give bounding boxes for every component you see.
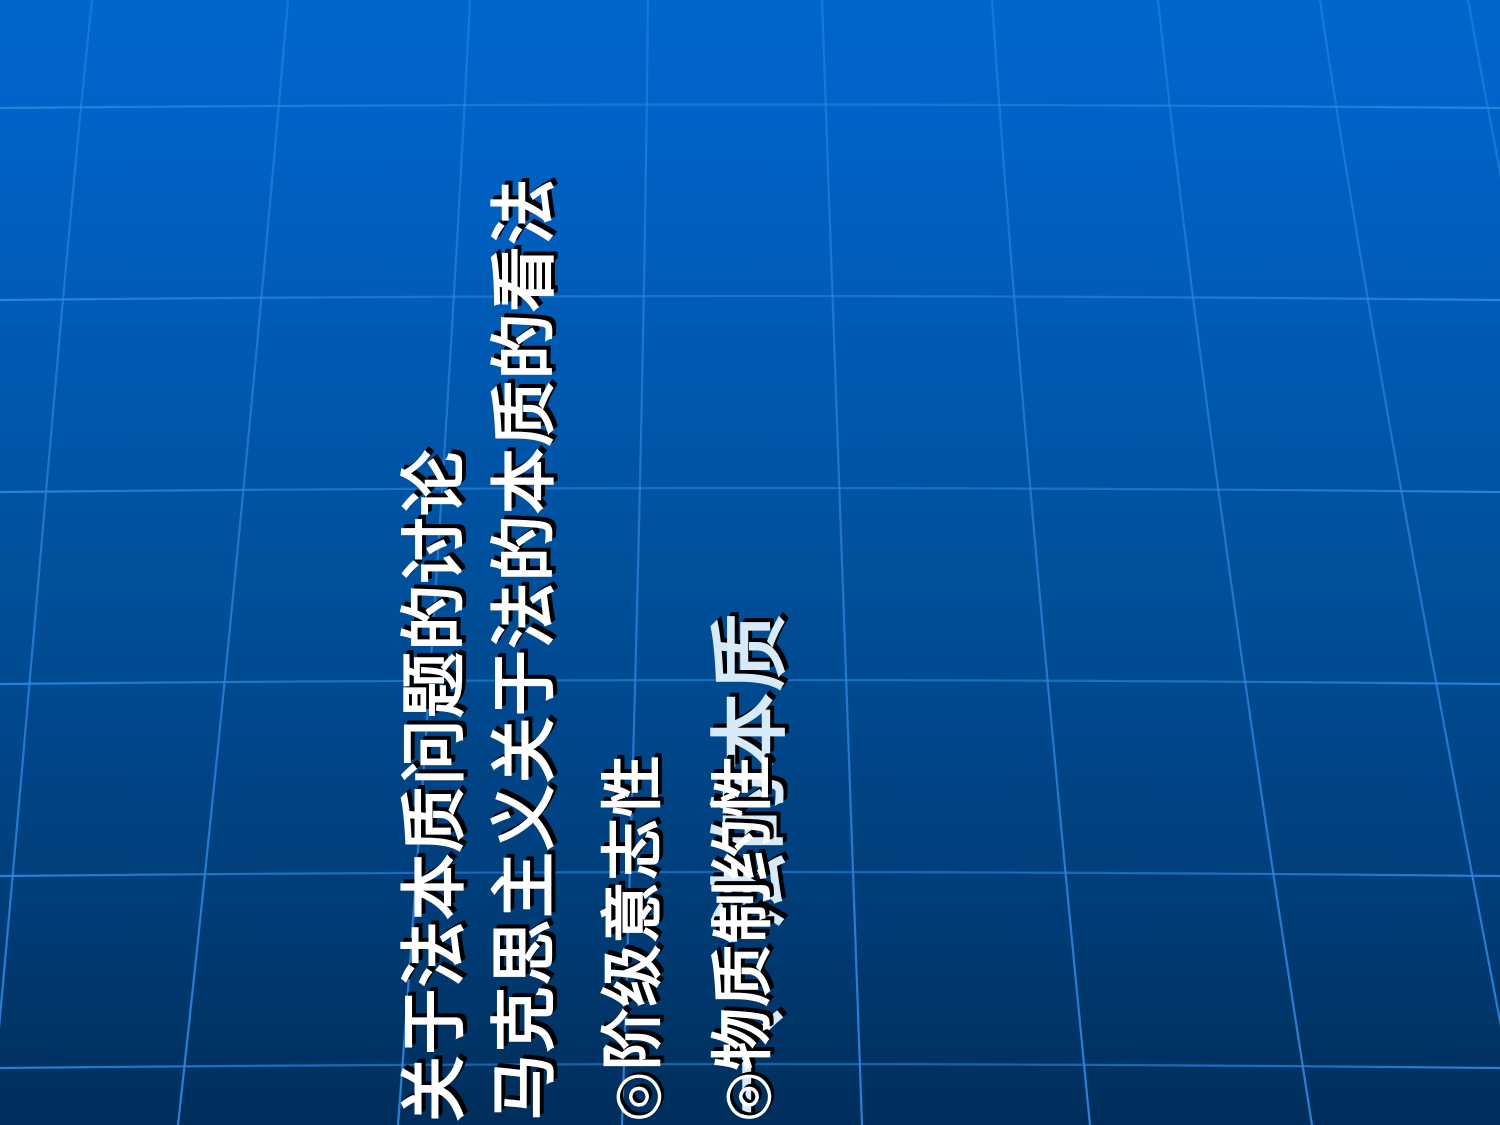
sub-bullet-material-constraint-label: 物质制约性 (706, 754, 779, 1070)
presentation-slide: 一、 法的本质 马克思主义关于法的本质的看法 关于法本质问题的讨论 ◎阶级意志性… (0, 0, 1500, 1125)
circle-bullet-icon: ◎ (600, 1070, 668, 1122)
sub-bullet-class-will: ◎阶级意志性 (602, 754, 664, 1122)
bullet-line-marxist-view: 马克思主义关于法的本质的看法 (492, 178, 558, 1120)
sub-bullet-material-constraint: ◎物质制约性 (712, 754, 774, 1122)
circle-bullet-icon: ◎ (710, 1070, 778, 1122)
bullet-line-essence-discussion: 关于法本质问题的讨论 (402, 449, 468, 1122)
sub-bullet-class-will-label: 阶级意志性 (596, 754, 669, 1070)
